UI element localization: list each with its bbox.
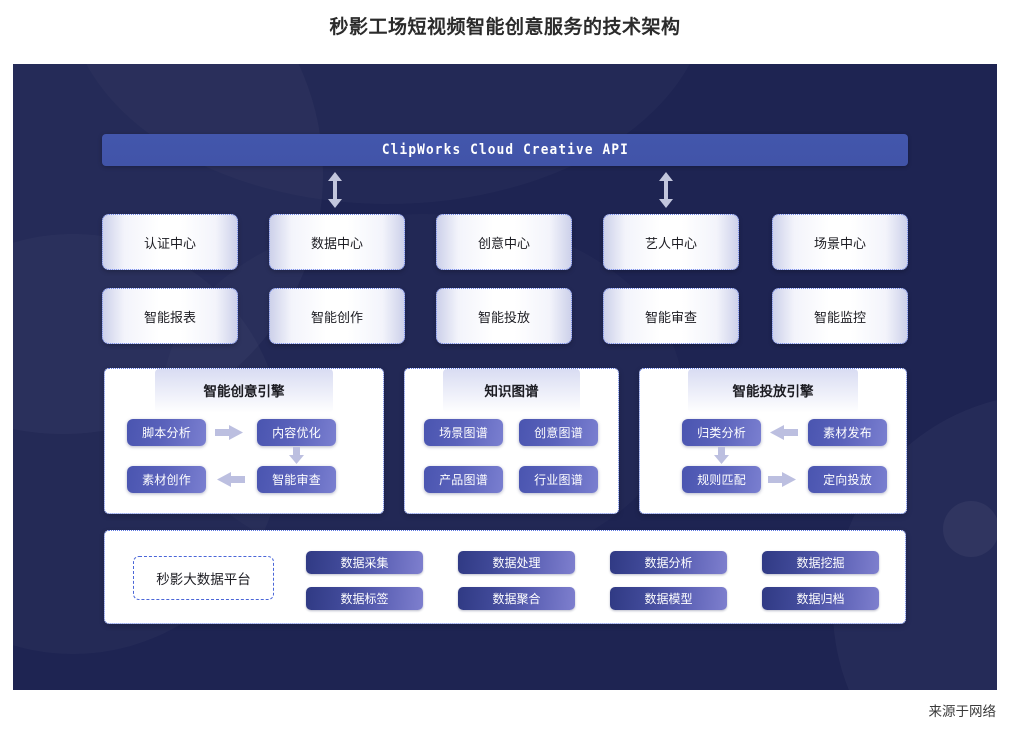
data-item-label: 数据挖掘 — [796, 554, 844, 571]
node-material-creation[interactable]: 素材创作 — [127, 466, 206, 493]
center-card-label: 艺人中心 — [645, 233, 697, 252]
arrow-left-icon — [768, 425, 798, 440]
arrow-right-icon — [215, 425, 245, 440]
node-label: 场景图谱 — [439, 424, 488, 441]
data-item-analysis[interactable]: 数据分析 — [610, 551, 727, 574]
node-label: 素材发布 — [823, 424, 872, 441]
node-label: 脚本分析 — [142, 424, 191, 441]
panel-big-data-platform: 秒影大数据平台 数据采集 数据处理 数据分析 数据挖掘 数据标签 数据聚合 数据… — [104, 530, 906, 624]
node-label: 产品图谱 — [439, 471, 488, 488]
data-item-label: 数据聚合 — [492, 590, 540, 607]
panel-title: 智能创意引擎 — [105, 380, 383, 400]
data-item-label: 数据模型 — [644, 590, 692, 607]
data-item-aggregation[interactable]: 数据聚合 — [458, 587, 575, 610]
center-card-chuangyi[interactable]: 创意中心 — [436, 214, 572, 270]
node-rule-matching[interactable]: 规则匹配 — [682, 466, 761, 493]
node-material-publish[interactable]: 素材发布 — [808, 419, 887, 446]
center-card-zhinengshencha[interactable]: 智能审查 — [603, 288, 739, 344]
arrow-right-icon — [768, 472, 798, 487]
node-scene-graph[interactable]: 场景图谱 — [424, 419, 503, 446]
node-creative-graph[interactable]: 创意图谱 — [519, 419, 598, 446]
node-label: 规则匹配 — [697, 471, 746, 488]
node-targeted-delivery[interactable]: 定向投放 — [808, 466, 887, 493]
panel-delivery-engine: 智能投放引擎 归类分析 素材发布 规则匹配 定向投放 — [639, 368, 907, 514]
center-card-changjing[interactable]: 场景中心 — [772, 214, 908, 270]
node-classification-analysis[interactable]: 归类分析 — [682, 419, 761, 446]
data-item-tagging[interactable]: 数据标签 — [306, 587, 423, 610]
background-circle-small-right — [943, 501, 997, 557]
center-card-label: 智能投放 — [478, 307, 530, 326]
node-label: 内容优化 — [272, 424, 321, 441]
data-item-label: 数据分析 — [644, 554, 692, 571]
node-label: 素材创作 — [142, 471, 191, 488]
center-card-label: 智能监控 — [814, 307, 866, 326]
node-industry-graph[interactable]: 行业图谱 — [519, 466, 598, 493]
center-card-label: 智能报表 — [144, 307, 196, 326]
node-label: 归类分析 — [697, 424, 746, 441]
source-note: 来源于网络 — [929, 700, 997, 720]
data-item-collection[interactable]: 数据采集 — [306, 551, 423, 574]
architecture-diagram-canvas: ClipWorks Cloud Creative API 认证中心 数据中心 创… — [13, 64, 997, 690]
node-label: 行业图谱 — [534, 471, 583, 488]
arrow-down-icon — [714, 447, 729, 464]
center-card-yiren[interactable]: 艺人中心 — [603, 214, 739, 270]
node-label: 定向投放 — [823, 471, 872, 488]
double-arrow-vertical-icon — [326, 172, 344, 208]
center-card-label: 创意中心 — [478, 233, 530, 252]
center-card-zhinengtoufang[interactable]: 智能投放 — [436, 288, 572, 344]
node-smart-review[interactable]: 智能审查 — [257, 466, 336, 493]
node-script-analysis[interactable]: 脚本分析 — [127, 419, 206, 446]
api-bar-label: ClipWorks Cloud Creative API — [381, 142, 628, 158]
center-card-zhinengchuangzuo[interactable]: 智能创作 — [269, 288, 405, 344]
node-content-optimization[interactable]: 内容优化 — [257, 419, 336, 446]
data-item-processing[interactable]: 数据处理 — [458, 551, 575, 574]
data-item-archiving[interactable]: 数据归档 — [762, 587, 879, 610]
big-data-platform-label: 秒影大数据平台 — [156, 568, 251, 588]
center-card-zhinengjiankong[interactable]: 智能监控 — [772, 288, 908, 344]
center-card-shuju[interactable]: 数据中心 — [269, 214, 405, 270]
node-label: 智能审查 — [272, 471, 321, 488]
arrow-down-icon — [289, 447, 304, 464]
node-label: 创意图谱 — [534, 424, 583, 441]
data-item-model[interactable]: 数据模型 — [610, 587, 727, 610]
data-item-label: 数据标签 — [340, 590, 388, 607]
center-card-label: 认证中心 — [144, 233, 196, 252]
panel-knowledge-graph: 知识图谱 场景图谱 创意图谱 产品图谱 行业图谱 — [404, 368, 619, 514]
center-card-zhinengbaobiao[interactable]: 智能报表 — [102, 288, 238, 344]
data-item-label: 数据采集 — [340, 554, 388, 571]
page-title: 秒影工场短视频智能创意服务的技术架构 — [0, 12, 1010, 39]
big-data-platform-label-box: 秒影大数据平台 — [133, 556, 274, 600]
node-product-graph[interactable]: 产品图谱 — [424, 466, 503, 493]
panel-creative-engine: 智能创意引擎 脚本分析 内容优化 素材创作 智能审查 — [104, 368, 384, 514]
center-card-renzheng[interactable]: 认证中心 — [102, 214, 238, 270]
double-arrow-vertical-icon — [657, 172, 675, 208]
panel-title: 智能投放引擎 — [640, 380, 906, 400]
data-item-label: 数据处理 — [492, 554, 540, 571]
center-card-label: 场景中心 — [814, 233, 866, 252]
arrow-left-icon — [215, 472, 245, 487]
panel-title: 知识图谱 — [405, 380, 618, 400]
clipworks-cloud-creative-api-bar[interactable]: ClipWorks Cloud Creative API — [102, 134, 908, 166]
center-card-label: 智能审查 — [645, 307, 697, 326]
center-card-label: 智能创作 — [311, 307, 363, 326]
center-card-label: 数据中心 — [311, 233, 363, 252]
data-item-mining[interactable]: 数据挖掘 — [762, 551, 879, 574]
data-item-label: 数据归档 — [796, 590, 844, 607]
